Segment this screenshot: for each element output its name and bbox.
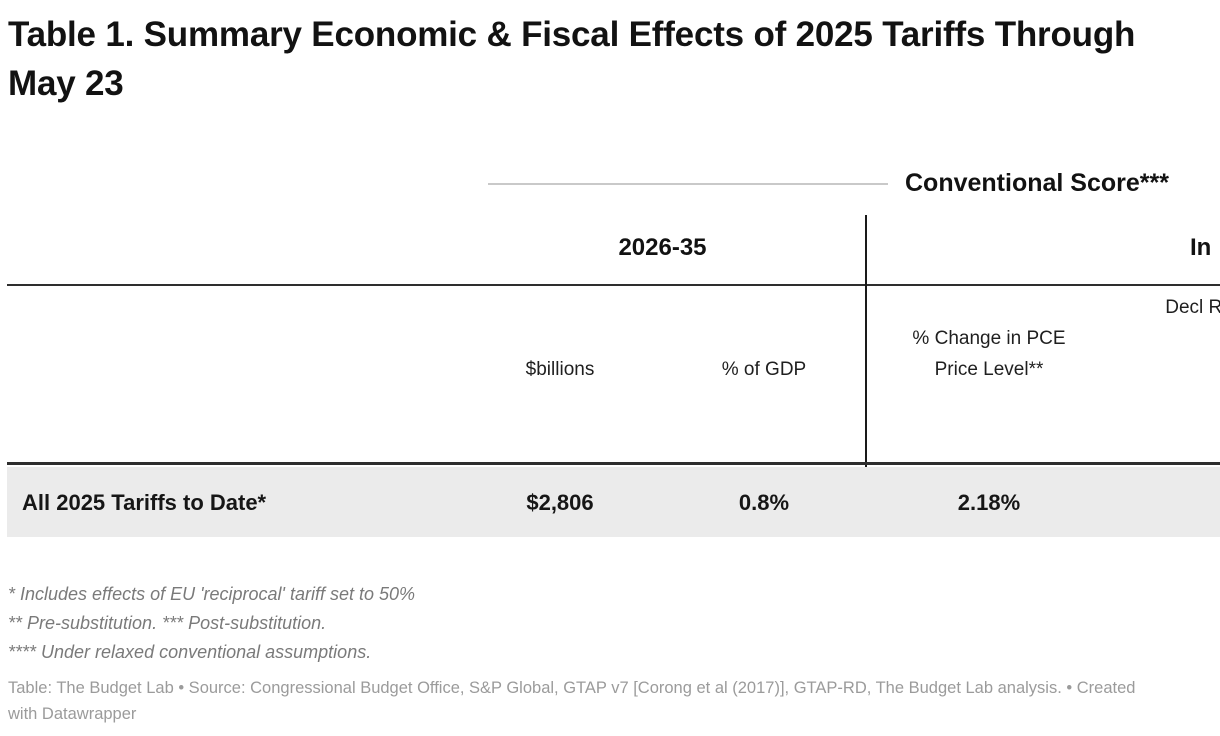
page-title: Table 1. Summary Economic & Fiscal Effec…	[8, 10, 1208, 108]
footnote-1: * Includes effects of EU 'reciprocal' ta…	[8, 580, 1208, 609]
footnote-2: ** Pre-substitution. *** Post-substituti…	[8, 609, 1208, 638]
row-label-all-2025-tariffs: All 2025 Tariffs to Date*	[22, 488, 266, 518]
footnote-3: **** Under relaxed conventional assumpti…	[8, 638, 1208, 667]
subgroup-header-row: 2026-35 In	[0, 210, 1220, 284]
body-top-rule	[7, 462, 1220, 465]
row-value-billions: $2,806	[460, 488, 660, 518]
column-header-billions: $billions	[460, 354, 660, 385]
row-value-pce-price-level: 2.18%	[890, 488, 1088, 518]
column-header-decline-real-income-household: Decl Re I Hous	[1095, 292, 1220, 323]
group-header-conventional-score: Conventional Score***	[905, 166, 1169, 200]
table-row: All 2025 Tariffs to Date* $2,806 0.8% 2.…	[7, 467, 1220, 537]
group-header-row: Conventional Score***	[0, 148, 1220, 210]
subgroup-header-incidence: In	[1190, 232, 1211, 264]
table-footnotes: * Includes effects of EU 'reciprocal' ta…	[8, 580, 1208, 667]
row-value-percent-of-gdp: 0.8%	[665, 488, 863, 518]
subgroup-header-period: 2026-35	[560, 232, 765, 264]
column-header-row: $billions % of GDP % Change in PCE Price…	[0, 286, 1220, 462]
summary-table: Conventional Score*** 2026-35 In $billio…	[0, 148, 1220, 548]
column-header-percent-of-gdp: % of GDP	[665, 354, 863, 385]
table-credit: Table: The Budget Lab • Source: Congress…	[8, 675, 1168, 727]
group-header-rule	[488, 183, 888, 185]
column-header-pce-price-level: % Change in PCE Price Level**	[890, 323, 1088, 385]
